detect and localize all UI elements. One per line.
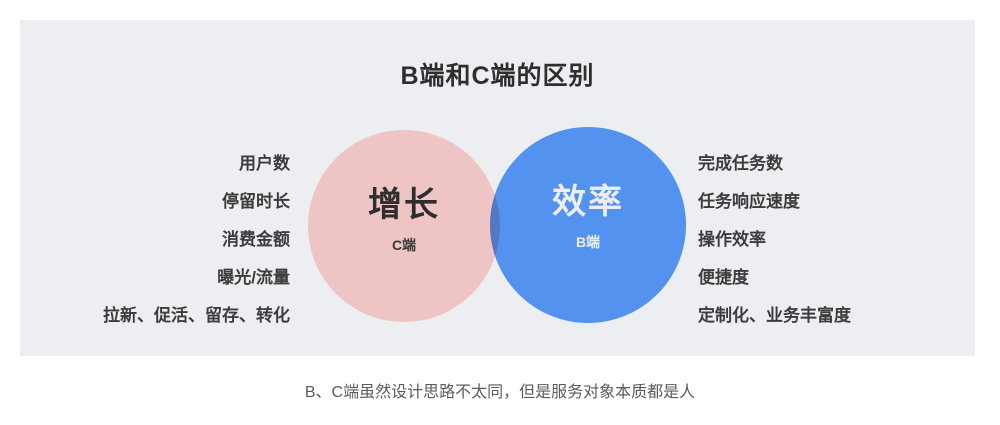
list-item: 完成任务数 xyxy=(698,145,968,183)
list-item: 拉新、促活、留存、转化 xyxy=(20,297,290,335)
list-item: 消费金额 xyxy=(20,221,290,259)
venn-circle-c-side-sub-label: C端 xyxy=(308,238,500,252)
content-card: B端和C端的区别 增长 C端 效率 B端 用户数 停留时长 消费金额 曝光/流量… xyxy=(20,20,975,356)
left-metrics-list: 用户数 停留时长 消费金额 曝光/流量 拉新、促活、留存、转化 xyxy=(20,145,290,335)
list-item: 任务响应速度 xyxy=(698,183,968,221)
venn-circle-b-side-sub-label: B端 xyxy=(490,235,686,249)
list-item: 停留时长 xyxy=(20,183,290,221)
venn-circle-b-side: 效率 B端 xyxy=(490,127,686,323)
figure-caption: B、C端虽然设计思路不太同，但是服务对象本质都是人 xyxy=(0,378,1000,402)
right-metrics-list: 完成任务数 任务响应速度 操作效率 便捷度 定制化、业务丰富度 xyxy=(698,145,968,335)
venn-circle-c-side-main-label: 增长 xyxy=(308,188,500,222)
list-item: 曝光/流量 xyxy=(20,259,290,297)
list-item: 用户数 xyxy=(20,145,290,183)
venn-circle-b-side-main-label: 效率 xyxy=(490,185,686,219)
list-item: 操作效率 xyxy=(698,221,968,259)
list-item: 定制化、业务丰富度 xyxy=(698,297,968,335)
list-item: 便捷度 xyxy=(698,259,968,297)
page-root: B端和C端的区别 增长 C端 效率 B端 用户数 停留时长 消费金额 曝光/流量… xyxy=(0,0,1000,425)
venn-circle-b-side-labels: 效率 B端 xyxy=(490,185,686,249)
venn-circle-c-side: 增长 C端 xyxy=(308,130,500,322)
venn-circle-c-side-labels: 增长 C端 xyxy=(308,188,500,252)
